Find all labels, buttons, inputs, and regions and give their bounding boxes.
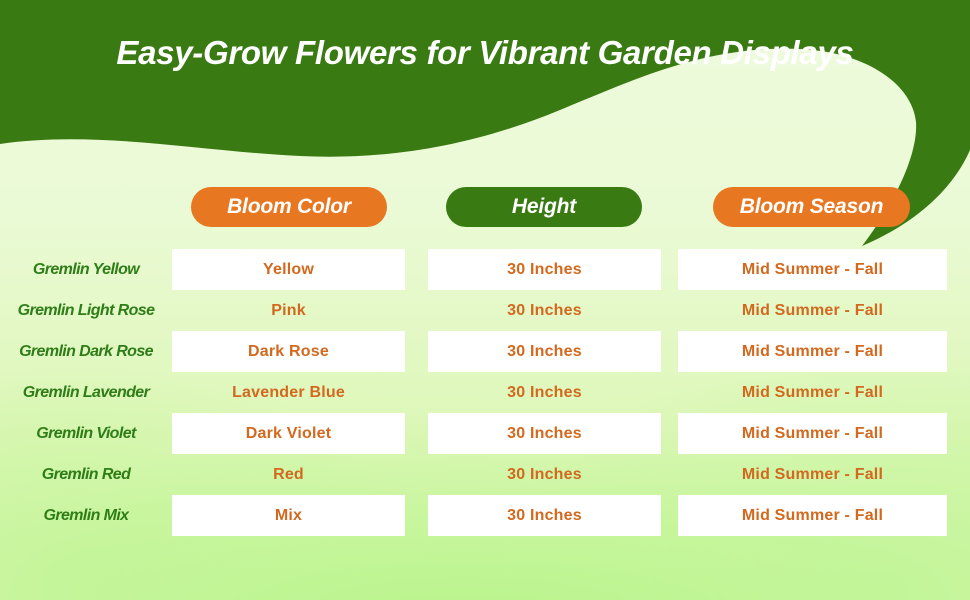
cell-height: 30 Inches xyxy=(428,454,661,495)
cell-height: 30 Inches xyxy=(428,331,661,372)
table-row: Gremlin Lavender Lavender Blue 30 Inches… xyxy=(0,372,970,413)
row-label: Gremlin Light Rose xyxy=(0,290,172,331)
row-label: Gremlin Red xyxy=(0,454,172,495)
column-header-bloom-season[interactable]: Bloom Season xyxy=(713,187,910,227)
row-label: Gremlin Dark Rose xyxy=(0,331,172,372)
table-row: Gremlin Yellow Yellow 30 Inches Mid Summ… xyxy=(0,249,970,290)
cell-bloom-color: Yellow xyxy=(172,249,405,290)
cell-bloom-season: Mid Summer - Fall xyxy=(678,331,947,372)
cell-bloom-season: Mid Summer - Fall xyxy=(678,495,947,536)
table-row: Gremlin Light Rose Pink 30 Inches Mid Su… xyxy=(0,290,970,331)
table-row: Gremlin Mix Mix 30 Inches Mid Summer - F… xyxy=(0,495,970,536)
cell-bloom-color: Dark Violet xyxy=(172,413,405,454)
cell-bloom-color: Red xyxy=(172,454,405,495)
flower-comparison-table: Bloom Color Height Bloom Season Gremlin … xyxy=(0,0,970,600)
row-label: Gremlin Violet xyxy=(0,413,172,454)
table-row: Gremlin Dark Rose Dark Rose 30 Inches Mi… xyxy=(0,331,970,372)
table-row: Gremlin Violet Dark Violet 30 Inches Mid… xyxy=(0,413,970,454)
row-label: Gremlin Mix xyxy=(0,495,172,536)
infographic-page: Easy-Grow Flowers for Vibrant Garden Dis… xyxy=(0,0,970,600)
cell-height: 30 Inches xyxy=(428,249,661,290)
column-header-height[interactable]: Height xyxy=(446,187,642,227)
row-label: Gremlin Lavender xyxy=(0,372,172,413)
cell-bloom-color: Lavender Blue xyxy=(172,372,405,413)
cell-bloom-season: Mid Summer - Fall xyxy=(678,372,947,413)
cell-bloom-color: Dark Rose xyxy=(172,331,405,372)
cell-bloom-season: Mid Summer - Fall xyxy=(678,290,947,331)
cell-height: 30 Inches xyxy=(428,290,661,331)
row-label: Gremlin Yellow xyxy=(0,249,172,290)
cell-bloom-season: Mid Summer - Fall xyxy=(678,454,947,495)
cell-height: 30 Inches xyxy=(428,495,661,536)
cell-bloom-color: Mix xyxy=(172,495,405,536)
table-row: Gremlin Red Red 30 Inches Mid Summer - F… xyxy=(0,454,970,495)
cell-bloom-season: Mid Summer - Fall xyxy=(678,249,947,290)
cell-height: 30 Inches xyxy=(428,413,661,454)
column-header-bloom-color[interactable]: Bloom Color xyxy=(191,187,387,227)
cell-height: 30 Inches xyxy=(428,372,661,413)
cell-bloom-color: Pink xyxy=(172,290,405,331)
cell-bloom-season: Mid Summer - Fall xyxy=(678,413,947,454)
